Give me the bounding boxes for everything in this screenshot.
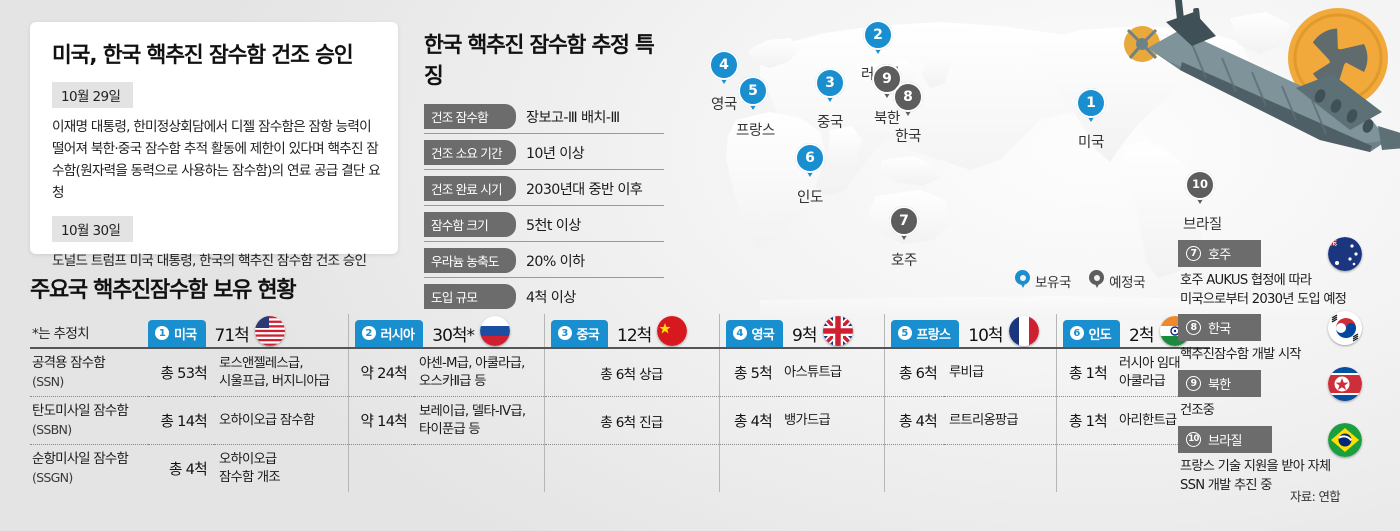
rank-badge: 10	[1186, 432, 1201, 447]
spec-label: 우라늄 농축도	[424, 248, 516, 273]
country-name: 러시아	[381, 324, 415, 343]
spec-value: 2030년대 중반 이후	[526, 179, 642, 199]
rank-badge: 3	[558, 326, 572, 340]
rank-badge: 8	[1186, 320, 1201, 335]
flag-ru-icon	[480, 316, 510, 346]
cell-qty	[348, 445, 414, 493]
fleet-table-wrap: 1 미국 71척	[30, 314, 1170, 492]
row-label-name: 순항미사일 잠수함	[32, 452, 128, 467]
cell-qty	[884, 445, 944, 493]
row-label-ssgn: 순항미사일 잠수함 (SSGN)	[30, 445, 148, 493]
rank-badge: 7	[1186, 246, 1201, 261]
country-name: 영국	[752, 324, 775, 343]
flag-cn-icon	[657, 316, 687, 346]
side-tag-br[interactable]: 10 브라질	[1178, 426, 1272, 453]
legend-label: 예정국	[1109, 271, 1145, 291]
flag-au-icon	[1328, 237, 1362, 271]
flag-us-icon	[255, 316, 285, 346]
side-country-name: 한국	[1208, 318, 1231, 337]
flag-gb-icon	[823, 316, 853, 346]
map-pin-8[interactable]: 8 한국	[891, 82, 925, 146]
cell-qty: 총 1척	[1056, 348, 1114, 397]
infographic-root: 1 미국 2 러시아 3 중국 4 영국 5 프랑스 6 인도 7 호주 9 북	[0, 0, 1400, 531]
pin-label: 프랑스	[736, 119, 770, 140]
country-chip-cn[interactable]: 3 중국	[551, 320, 609, 347]
side-panel-au: 7 호주 호주 AUKUS 협정에 따라 미국으로부터 2030년 도입 예정	[1178, 240, 1386, 311]
cell-qty: 총 4척	[719, 397, 779, 445]
legend-item-planned: 예정국	[1089, 270, 1145, 291]
fleet-note-cell	[30, 314, 148, 348]
rank-badge: 6	[1070, 326, 1084, 340]
country-chip-ru[interactable]: 2 러시아	[355, 320, 424, 347]
fleet-header-row: 1 미국 71척	[30, 314, 1210, 348]
country-header-fr[interactable]: 5 프랑스 10척	[884, 314, 1056, 348]
cell-class: 로스앤젤레스급, 시울프급, 버지니아급	[214, 348, 348, 397]
spec-label: 건조 잠수함	[424, 104, 516, 129]
cell-class: 오하이오급 잠수함 개조	[214, 445, 348, 493]
table-row-ssgn: 순항미사일 잠수함 (SSGN) 총 4척 오하이오급 잠수함 개조	[30, 445, 1210, 493]
table-row-ssn: 공격용 잠수함 (SSN) 총 53척 로스앤젤레스급, 시울프급, 버지니아급…	[30, 348, 1210, 397]
side-panels: 7 호주 호주 AUKUS 협정에 따라 미국으로부터 2030년 도입 예정	[1178, 240, 1386, 500]
pin-head-icon: 3	[815, 68, 845, 98]
cell-qty: 약 14척	[348, 397, 414, 445]
cell-qty	[1056, 445, 1114, 493]
side-panel-text: 프랑스 기술 지원을 받아 자체 SSN 개발 추진 중	[1178, 453, 1386, 497]
country-header-cn[interactable]: 3 중국 12척	[544, 314, 719, 348]
side-panel-text: 호주 AUKUS 협정에 따라 미국으로부터 2030년 도입 예정	[1178, 267, 1386, 311]
country-name: 프랑스	[917, 324, 951, 343]
country-name: 중국	[577, 324, 600, 343]
pin-head-icon: 7	[889, 206, 919, 236]
spec-value: 20% 이하	[526, 251, 585, 271]
cell-class	[414, 445, 544, 493]
country-count: 30척*	[432, 321, 474, 346]
side-panel-kp: 9 북한 건조중	[1178, 370, 1386, 423]
pin-head-icon: 8	[893, 82, 923, 112]
side-tag-kr[interactable]: 8 한국	[1178, 314, 1261, 341]
spec-label: 건조 소요 기간	[424, 140, 516, 165]
country-count: 12척	[617, 321, 651, 346]
cell-class: 루비급	[944, 348, 1056, 397]
map-pin-7[interactable]: 7 호주	[887, 206, 921, 270]
table-row-ssbn: 탄도미사일 잠수함 (SSBN) 총 14척 오하이오급 잠수함 약 14척 보…	[30, 397, 1210, 445]
cell-qty	[719, 445, 779, 493]
flag-kr-icon	[1328, 311, 1362, 345]
country-count: 10척	[968, 321, 1002, 346]
spec-value: 10년 이상	[526, 143, 584, 163]
row-label-name: 공격용 잠수함	[32, 356, 105, 371]
country-header-gb[interactable]: 4 영국 9척	[719, 314, 884, 348]
cell-qty: 총 6척	[884, 348, 944, 397]
cell-class: 르트리옹팡급	[944, 397, 1056, 445]
pin-head-icon: 10	[1185, 170, 1215, 200]
cell-class	[779, 445, 884, 493]
source-credit: 자료: 연합	[1290, 487, 1340, 505]
country-name: 인도	[1089, 324, 1112, 343]
map-pin-icon	[1089, 270, 1104, 291]
spec-title: 한국 핵추진 잠수함 추정 특징	[424, 28, 664, 90]
cell-qty: 총 53척	[148, 348, 214, 397]
pin-label: 호주	[887, 249, 921, 270]
cell-class: 야센-M급, 아쿨라급, 오스카Ⅱ급 등	[414, 348, 544, 397]
legend-label: 보유국	[1035, 271, 1071, 291]
pin-label: 브라질	[1183, 213, 1217, 234]
cell-class: 아스튜트급	[779, 348, 884, 397]
propeller-icon	[1124, 26, 1160, 62]
country-chip-gb[interactable]: 4 영국	[726, 320, 784, 347]
side-country-name: 북한	[1208, 374, 1231, 393]
spec-value: 장보고-Ⅲ 배치-Ⅲ	[526, 107, 620, 127]
pin-label: 인도	[793, 186, 827, 207]
spec-row: 잠수함 크기 5천t 이상	[424, 212, 664, 242]
legend-item-owned: 보유국	[1015, 270, 1071, 291]
pin-label: 중국	[813, 111, 847, 132]
rank-badge: 2	[362, 326, 376, 340]
cell-center	[544, 445, 719, 493]
map-pin-5[interactable]: 5 프랑스	[736, 76, 770, 140]
country-count: 9척	[792, 321, 816, 346]
news-card: 미국, 한국 핵추진 잠수함 건조 승인 10월 29일 이재명 대통령, 한미…	[30, 22, 398, 254]
spec-row: 건조 완료 시기 2030년대 중반 이후	[424, 176, 664, 206]
cell-qty: 약 24척	[348, 348, 414, 397]
cell-class: 오하이오급 잠수함	[214, 397, 348, 445]
spec-table: 한국 핵추진 잠수함 추정 특징 건조 잠수함 장보고-Ⅲ 배치-Ⅲ 건조 소요…	[424, 28, 664, 319]
flag-br-icon	[1328, 423, 1362, 457]
pin-head-icon: 2	[863, 20, 893, 50]
map-pin-6[interactable]: 6 인도	[793, 143, 827, 207]
row-label-ssbn: 탄도미사일 잠수함 (SSBN)	[30, 397, 148, 445]
side-country-name: 호주	[1208, 244, 1231, 263]
cell-center: 총 6척 상급	[544, 348, 719, 397]
date-chip-2: 10월 30일	[52, 216, 133, 242]
date-chip-1: 10월 29일	[52, 82, 133, 108]
side-panel-br: 10 브라질 프랑스 기술 지원을 받아 자체 SSN 개발 추진 중	[1178, 426, 1386, 497]
rank-badge: 1	[155, 326, 169, 340]
cell-class	[944, 445, 1056, 493]
spec-label: 도입 규모	[424, 284, 516, 309]
row-label-code: (SSN)	[32, 373, 148, 390]
cell-qty: 총 14척	[148, 397, 214, 445]
fleet-table: 1 미국 71척	[30, 314, 1210, 492]
side-tag-au[interactable]: 7 호주	[1178, 240, 1261, 267]
country-count: 71척	[215, 321, 249, 346]
country-chip-in[interactable]: 6 인도	[1063, 320, 1121, 347]
rank-badge: 4	[733, 326, 747, 340]
country-header-us[interactable]: 1 미국 71척	[148, 314, 348, 348]
row-label-code: (SSBN)	[32, 421, 148, 438]
country-name: 미국	[174, 324, 197, 343]
row-label-ssn: 공격용 잠수함 (SSN)	[30, 348, 148, 397]
country-chip-fr[interactable]: 5 프랑스	[891, 320, 960, 347]
flag-kp-icon	[1328, 367, 1362, 401]
map-pin-1[interactable]: 1 미국	[1074, 88, 1108, 152]
spec-row: 건조 소요 기간 10년 이상	[424, 140, 664, 170]
country-chip-us[interactable]: 1 미국	[148, 320, 206, 347]
pin-head-icon: 1	[1076, 88, 1106, 118]
news-body-2: 도널드 트럼프 미국 대통령, 한국의 핵추진 잠수함 건조 승인	[52, 250, 380, 272]
flag-fr-icon	[1009, 316, 1039, 346]
pin-head-icon: 6	[795, 143, 825, 173]
map-pin-10[interactable]: 10 브라질	[1183, 170, 1217, 234]
map-pin-icon	[1015, 270, 1030, 291]
submarine-illustration	[1120, 0, 1400, 160]
cell-center: 총 6척 진급	[544, 397, 719, 445]
spec-row: 우라늄 농축도 20% 이하	[424, 248, 664, 278]
cell-class: 보레이급, 델타-Ⅳ급, 타이푼급 등	[414, 397, 544, 445]
pin-head-icon: 4	[709, 50, 739, 80]
news-title: 미국, 한국 핵추진 잠수함 건조 승인	[52, 38, 380, 69]
news-body-1: 이재명 대통령, 한미정상회담에서 디젤 잠수함은 잠항 능력이 떨어져 북한·…	[52, 116, 380, 204]
cell-class: 뱅가드급	[779, 397, 884, 445]
cell-qty: 총 4척	[884, 397, 944, 445]
side-country-name: 브라질	[1208, 430, 1242, 449]
side-tag-kp[interactable]: 9 북한	[1178, 370, 1261, 397]
spec-value: 4척 이상	[526, 287, 576, 307]
spec-value: 5천t 이상	[526, 215, 581, 235]
submarine-svg	[1120, 0, 1400, 160]
rank-badge: 9	[1186, 376, 1201, 391]
rank-badge: 5	[898, 326, 912, 340]
pin-label: 미국	[1074, 131, 1108, 152]
spec-row: 건조 잠수함 장보고-Ⅲ 배치-Ⅲ	[424, 104, 664, 134]
country-header-ru[interactable]: 2 러시아 30척*	[348, 314, 544, 348]
fleet-title: 주요국 핵추진잠수함 보유 현황	[30, 272, 295, 304]
spec-label: 건조 완료 시기	[424, 176, 516, 201]
spec-label: 잠수함 크기	[424, 212, 516, 237]
side-panel-kr: 8 한국 핵추진잠수함 개발 시작	[1178, 314, 1386, 367]
cell-qty: 총 4척	[148, 445, 214, 493]
spec-row: 도입 규모 4척 이상	[424, 284, 664, 313]
map-pin-3[interactable]: 3 중국	[813, 68, 847, 132]
row-label-name: 탄도미사일 잠수함	[32, 404, 128, 419]
map-legend: 보유국 예정국	[1015, 270, 1145, 291]
row-label-code: (SSGN)	[32, 469, 148, 486]
country-count: 2척	[1129, 321, 1153, 346]
pin-head-icon: 5	[738, 76, 768, 106]
cell-qty: 총 5척	[719, 348, 779, 397]
cell-qty: 총 1척	[1056, 397, 1114, 445]
pin-label: 한국	[891, 125, 925, 146]
